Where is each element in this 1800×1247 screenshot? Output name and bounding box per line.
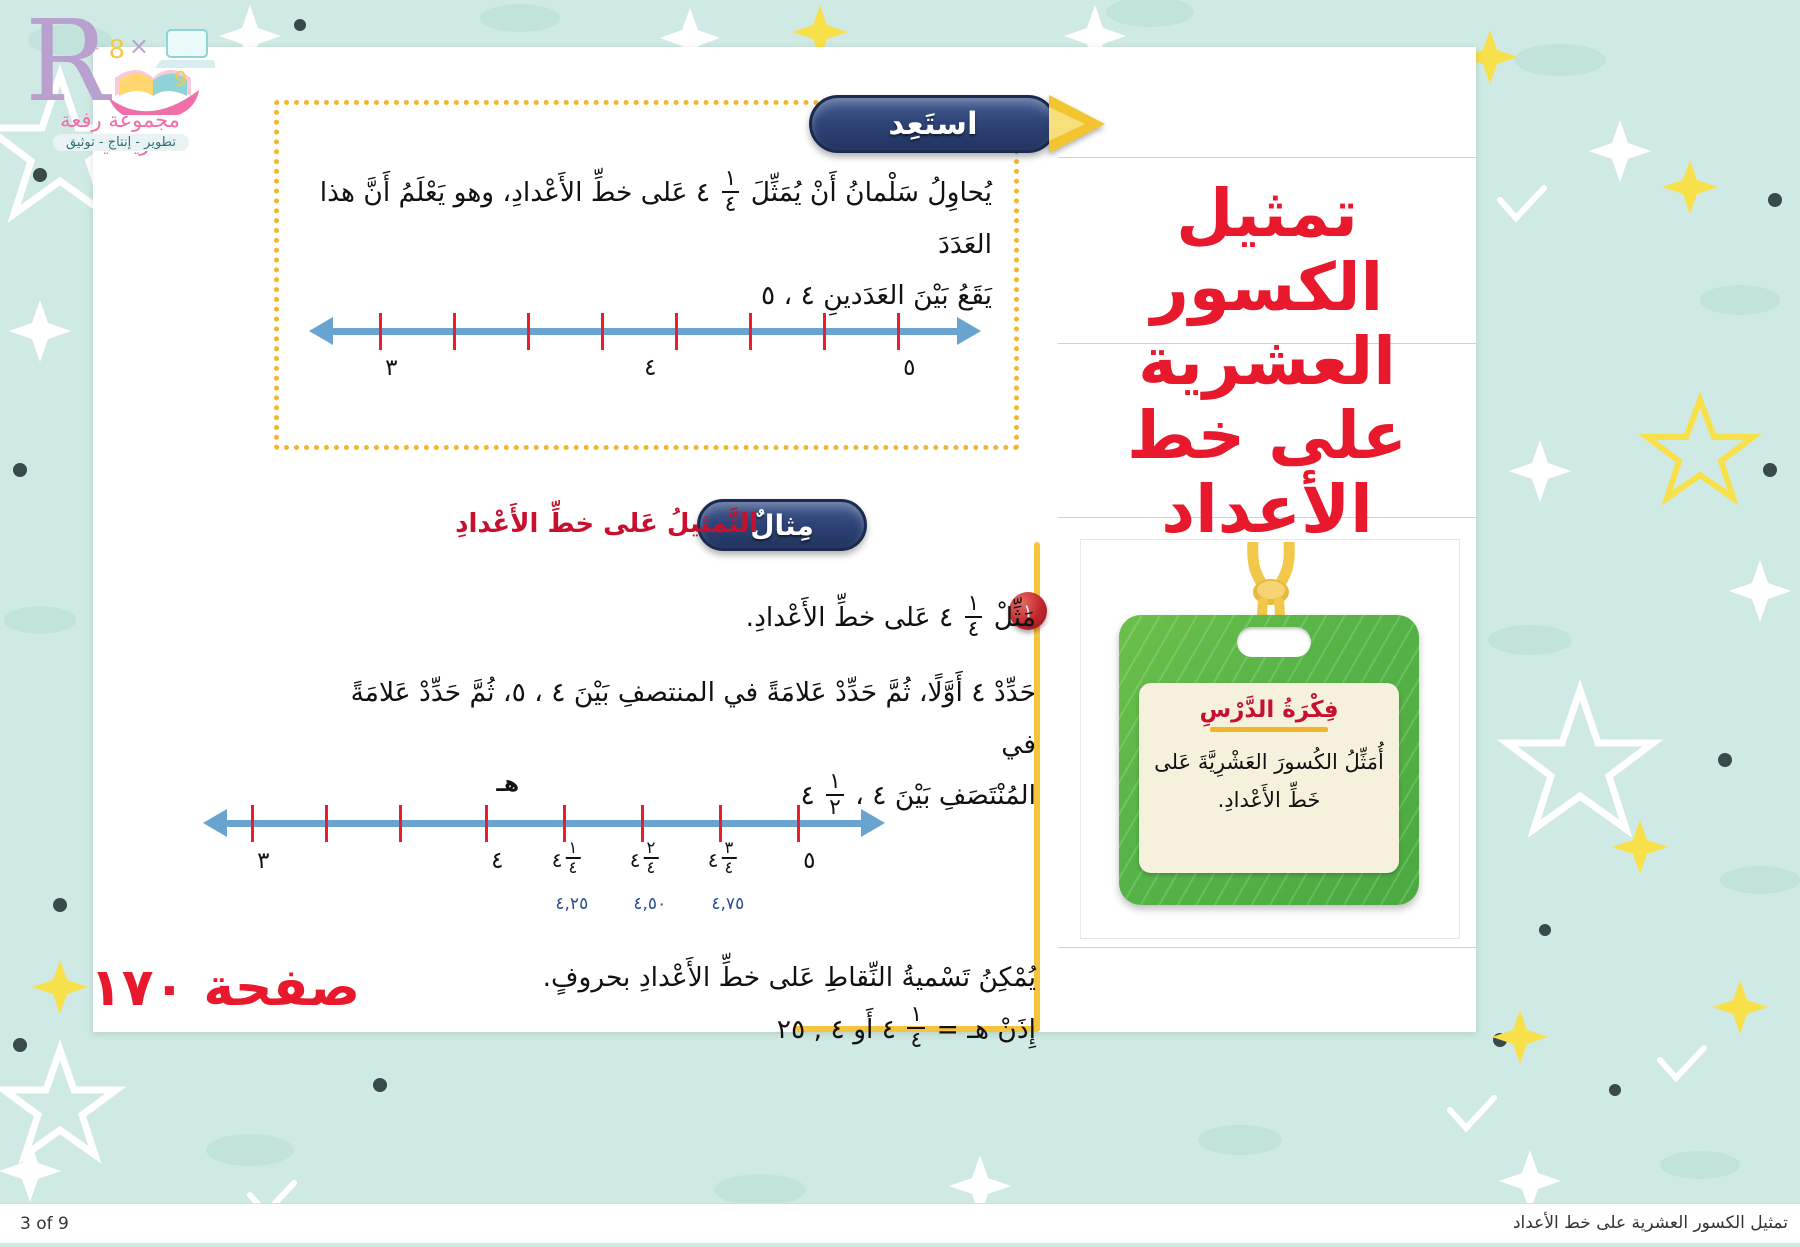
number-line-bar xyxy=(333,328,973,335)
fraction-numerator: ١ xyxy=(566,840,581,857)
prepare-banner: استَعِد xyxy=(809,95,1057,153)
fraction: ٣ ٤ xyxy=(722,840,737,877)
slide-page-sheet: استَعِد يُحاوِلُ سَلْمانُ أَنْ يُمَثِّلَ… xyxy=(93,47,1476,1032)
lesson-title: تمثيل الكسور العشرية على خط الأعداد xyxy=(1072,177,1462,547)
page-number-stamp: صفحة ١٧٠ xyxy=(90,958,360,1018)
number-line-tick xyxy=(325,805,328,842)
svg-text:×: × xyxy=(129,32,149,60)
fraction-numerator: ٢ xyxy=(644,840,659,857)
prepare-mixed-number: ١ ٤ xyxy=(722,168,740,215)
number-line-tick xyxy=(251,805,254,842)
prepare-whole-number: ٤ xyxy=(696,177,710,208)
number-line-arrow-left-icon xyxy=(203,809,227,837)
number-line-label: ٤ xyxy=(491,848,503,874)
prepare-paragraph: يُحاوِلُ سَلْمانُ أَنْ يُمَثِّلَ ١ ٤ ٤ ع… xyxy=(292,167,992,322)
number-line-fraction-label: ١ ٤ ٤ xyxy=(552,842,584,879)
number-line-tick xyxy=(897,313,900,350)
lesson-idea-line1: أُمَثِّلُ الكُسورَ العَشْرِيَّةَ عَلى xyxy=(1154,750,1384,774)
lesson-right-column: تمثيل الكسور العشرية على خط الأعداد فِكْ… xyxy=(1058,47,1476,1032)
example-mixed-number: ١ ٤ xyxy=(965,593,983,640)
number-line-label: ٤ xyxy=(644,355,656,381)
number-line-tick xyxy=(749,313,752,350)
status-bar-title: تمثيل الكسور العشرية على خط الأعداد xyxy=(1513,1213,1788,1233)
number-line-tick xyxy=(399,805,402,842)
number-line-label: ٥ xyxy=(803,848,815,874)
fraction-numerator: ١ xyxy=(965,593,983,616)
logo-tagline: تطوير - إنتاج - توثيق xyxy=(53,134,189,151)
number-line-decimal-label: ٤,٥٠ xyxy=(633,894,666,914)
number-line-label: ٣ xyxy=(257,848,269,874)
number-line-label: ٣ xyxy=(385,355,397,381)
fraction-numerator: ١ xyxy=(907,1004,925,1027)
fraction-denominator: ٤ xyxy=(644,857,659,876)
fraction-denominator: ٤ xyxy=(965,616,983,641)
number-line-decimal-label: ٤,٧٥ xyxy=(711,894,744,914)
svg-text:+: + xyxy=(95,34,101,62)
number-line-tick xyxy=(563,805,566,842)
number-line-arrow-right-icon xyxy=(861,809,885,837)
example-line2-part1: حَدِّدْ ٤ أَوَّلًا، ثُمَّ حَدِّدْ عَلامَ… xyxy=(351,677,1036,760)
fraction-whole: ٤ xyxy=(708,848,719,872)
lesson-idea-underline xyxy=(1210,727,1328,732)
example-instruction-line1: مَثِّلْ ١ ٤ ٤ عَلى خطِّ الأَعْدادِ. xyxy=(336,592,1036,644)
fraction-denominator: ٤ xyxy=(722,857,737,876)
example-closing-part1: إِذَنْ هـ = xyxy=(937,1014,1036,1045)
logo-graphic-icon: + 8 × % 9 xyxy=(95,20,215,115)
number-line-tick xyxy=(601,313,604,350)
number-line-tick xyxy=(453,313,456,350)
number-line-tick xyxy=(527,313,530,350)
fraction-numerator: ١ xyxy=(722,168,740,191)
svg-text:8: 8 xyxy=(108,35,125,65)
fraction-denominator: ٤ xyxy=(907,1027,925,1052)
status-bar-page-indicator[interactable]: 3 of 9 xyxy=(20,1214,69,1234)
number-line-tick xyxy=(485,805,488,842)
number-line-point-label: هـ xyxy=(496,772,519,797)
example-closing-text: يُمْكِنُ تَسْميةُ النِّقاطِ عَلى خطِّ ال… xyxy=(336,952,1036,1055)
number-line-tick xyxy=(675,313,678,350)
number-line-tick xyxy=(719,805,722,842)
fraction: ١ ٤ xyxy=(566,840,581,877)
brand-logo: R + 8 × % 9 مجموعة رفعة الرياضيات تطوير … xyxy=(25,12,215,152)
number-line-decimal-label: ٤,٢٥ xyxy=(555,894,588,914)
lesson-idea-panel: فِكْرَةُ الدَّرْسِ أُمَثِّلُ الكُسورَ ال… xyxy=(1080,539,1460,939)
number-line-fraction-label: ٣ ٤ ٤ xyxy=(708,842,740,879)
lesson-idea-text: أُمَثِّلُ الكُسورَ العَشْرِيَّةَ عَلى خَ… xyxy=(1153,744,1385,820)
lesson-idea-heading: فِكْرَةُ الدَّرْسِ xyxy=(1153,697,1385,723)
example-title: التَّمثيلُ عَلى خطِّ الأَعْدادِ xyxy=(455,509,758,539)
example-line1-whole: ٤ xyxy=(939,602,953,633)
lesson-idea-inner-panel: فِكْرَةُ الدَّرْسِ أُمَثِّلُ الكُسورَ ال… xyxy=(1139,683,1399,873)
number-line-tick xyxy=(379,313,382,350)
svg-text:9: 9 xyxy=(174,67,187,91)
number-line-arrow-left-icon xyxy=(309,317,333,345)
number-line-tick xyxy=(641,805,644,842)
fraction-numerator: ٣ xyxy=(722,840,737,857)
number-line-arrow-right-icon xyxy=(957,317,981,345)
example-closing-whole: ٤ xyxy=(882,1014,896,1045)
lesson-idea-card: فِكْرَةُ الدَّرْسِ أُمَثِّلُ الكُسورَ ال… xyxy=(1119,615,1419,905)
number-line-label: ٥ xyxy=(903,355,915,381)
fraction-whole: ٤ xyxy=(552,848,563,872)
example-number-line: هـ ٣ ٤ ٥ ١ ٤ ٤ xyxy=(203,782,893,942)
fraction-denominator: ٤ xyxy=(566,857,581,876)
prepare-number-line: ٣ ٤ ٥ xyxy=(309,303,989,403)
example-closing-line1: يُمْكِنُ تَسْميةُ النِّقاطِ عَلى خطِّ ال… xyxy=(543,962,1036,993)
example-line1-part1: مَثِّلْ xyxy=(994,602,1036,633)
prepare-text-part1: يُحاوِلُ سَلْمانُ أَنْ يُمَثِّلَ xyxy=(751,177,992,208)
example-closing-part2: أَو ٤ , ٢٥ xyxy=(777,1014,874,1045)
number-line-tick xyxy=(823,313,826,350)
viewer-status-bar: تمثيل الكسور العشرية على خط الأعداد 3 of… xyxy=(0,1203,1800,1243)
example-closing-fraction: ١ ٤ xyxy=(907,1004,925,1051)
number-line-tick xyxy=(797,805,800,842)
lesson-content-column: استَعِد يُحاوِلُ سَلْمانُ أَنْ يُمَثِّلَ… xyxy=(93,47,1058,1032)
number-line-fraction-label: ٢ ٤ ٤ xyxy=(630,842,662,879)
example-line1-part2: عَلى خطِّ الأَعْدادِ. xyxy=(746,602,931,633)
prepare-section: استَعِد يُحاوِلُ سَلْمانُ أَنْ يُمَثِّلَ… xyxy=(274,100,1019,450)
fraction: ٢ ٤ xyxy=(644,840,659,877)
fraction-denominator: ٤ xyxy=(722,191,740,216)
lesson-idea-line2: خَطِّ الأَعْدادِ. xyxy=(1218,788,1321,812)
fraction-whole: ٤ xyxy=(630,848,641,872)
card-hole xyxy=(1237,627,1311,657)
